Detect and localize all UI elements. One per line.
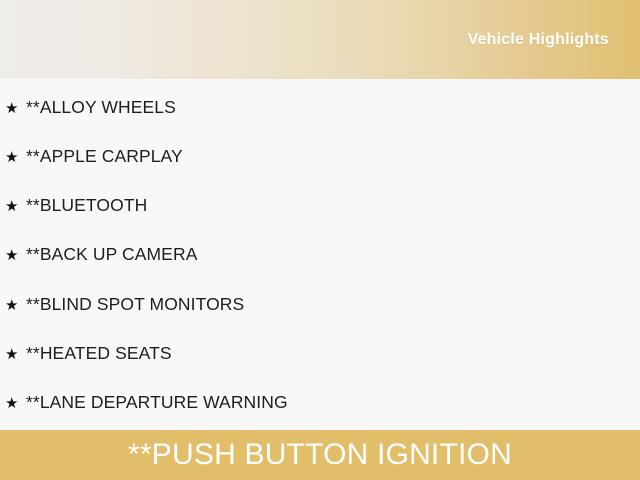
star-icon: ★ [5, 150, 21, 165]
header-band: Vehicle Highlights [0, 0, 640, 79]
star-icon: ★ [5, 347, 21, 362]
list-item: ★ **LANE DEPARTURE WARNING [0, 392, 640, 414]
star-icon: ★ [5, 101, 21, 116]
star-icon: ★ [5, 248, 21, 263]
bottom-banner: **PUSH BUTTON IGNITION [0, 430, 640, 480]
banner-text: **PUSH BUTTON IGNITION [128, 440, 512, 470]
page-title: Vehicle Highlights [468, 32, 609, 48]
highlight-label: **BLUETOOTH [26, 197, 640, 215]
list-item: ★ **APPLE CARPLAY [0, 146, 640, 168]
star-icon: ★ [5, 396, 21, 411]
highlight-label: **BLIND SPOT MONITORS [26, 296, 640, 314]
star-icon: ★ [5, 199, 21, 214]
list-item: ★ **BLUETOOTH [0, 195, 640, 217]
list-item: ★ **HEATED SEATS [0, 343, 640, 365]
star-icon: ★ [5, 298, 21, 313]
list-item: ★ **BACK UP CAMERA [0, 244, 640, 266]
highlight-label: **BACK UP CAMERA [26, 246, 640, 264]
highlight-label: **APPLE CARPLAY [26, 148, 640, 166]
highlight-label: **LANE DEPARTURE WARNING [26, 394, 640, 412]
highlight-label: **ALLOY WHEELS [26, 99, 640, 117]
list-item: ★ **ALLOY WHEELS [0, 97, 640, 119]
vehicle-highlights-list: ★ **ALLOY WHEELS ★ **APPLE CARPLAY ★ **B… [0, 79, 640, 430]
list-item: ★ **BLIND SPOT MONITORS [0, 294, 640, 316]
highlight-label: **HEATED SEATS [26, 345, 640, 363]
vehicle-highlights-panel: Vehicle Highlights ★ **ALLOY WHEELS ★ **… [0, 0, 640, 480]
